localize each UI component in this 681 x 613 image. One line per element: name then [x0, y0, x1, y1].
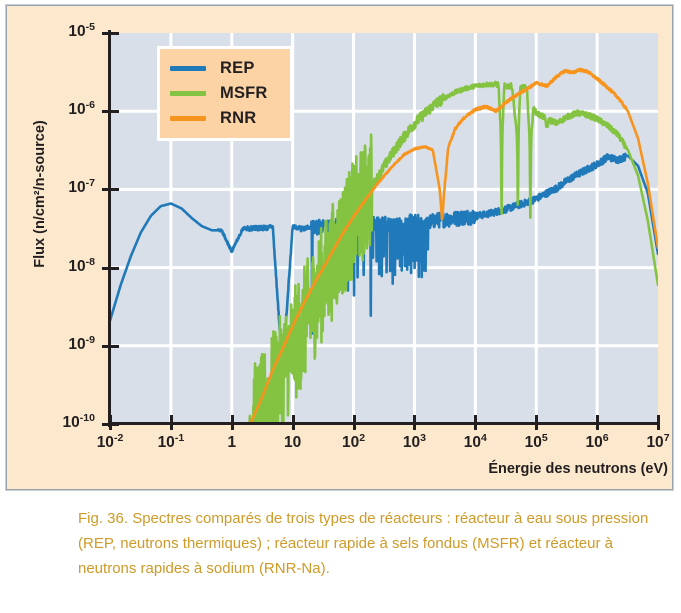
x-tick-mark — [353, 415, 356, 430]
y-tick-label: 10-6 — [7, 101, 95, 119]
x-tick-mark — [596, 415, 599, 430]
x-axis-label: Énergie des neutrons (eV) — [388, 461, 668, 477]
x-tick-mark — [535, 415, 538, 430]
legend-item-rnr[interactable]: RNR — [170, 106, 268, 131]
series-line-rep — [110, 154, 658, 408]
x-tick-mark — [170, 415, 173, 430]
y-tick-mark — [102, 345, 119, 348]
y-tick-mark — [102, 267, 119, 270]
legend-swatch-icon — [170, 91, 206, 96]
x-tick-mark — [474, 415, 477, 430]
x-tick-mark — [413, 415, 416, 430]
legend-item-msfr[interactable]: MSFR — [170, 81, 268, 106]
x-tick-label: 107 — [618, 434, 681, 452]
y-tick-label: 10-7 — [7, 179, 95, 197]
legend-label: REP — [220, 59, 255, 78]
x-axis-line — [108, 422, 660, 425]
figure-panel: 10-510-610-710-810-910-10 10-210-1110102… — [6, 5, 673, 490]
y-tick-mark — [102, 188, 119, 191]
y-axis-label: Flux (n/cm²/n-source) — [32, 79, 48, 309]
legend-label: MSFR — [220, 84, 268, 103]
legend-label: RNR — [220, 109, 256, 128]
y-tick-label: 10-5 — [7, 23, 95, 41]
legend-swatch-icon — [170, 116, 206, 121]
x-tick-mark — [292, 415, 295, 430]
y-tick-mark — [102, 32, 119, 35]
figure-root: 10-510-610-710-810-910-10 10-210-1110102… — [0, 0, 681, 613]
y-axis-line — [108, 30, 111, 427]
x-tick-mark — [657, 415, 660, 430]
chart-legend: REPMSFRRNR — [157, 46, 293, 141]
y-tick-label: 10-9 — [7, 336, 95, 354]
y-tick-label: 10-8 — [7, 258, 95, 276]
y-tick-label: 10-10 — [7, 414, 95, 432]
x-tick-mark — [109, 415, 112, 430]
legend-item-rep[interactable]: REP — [170, 56, 268, 81]
y-tick-mark — [102, 110, 119, 113]
x-tick-mark — [231, 415, 234, 430]
legend-swatch-icon — [170, 66, 206, 71]
figure-caption: Fig. 36. Spectres comparés de trois type… — [78, 506, 668, 581]
